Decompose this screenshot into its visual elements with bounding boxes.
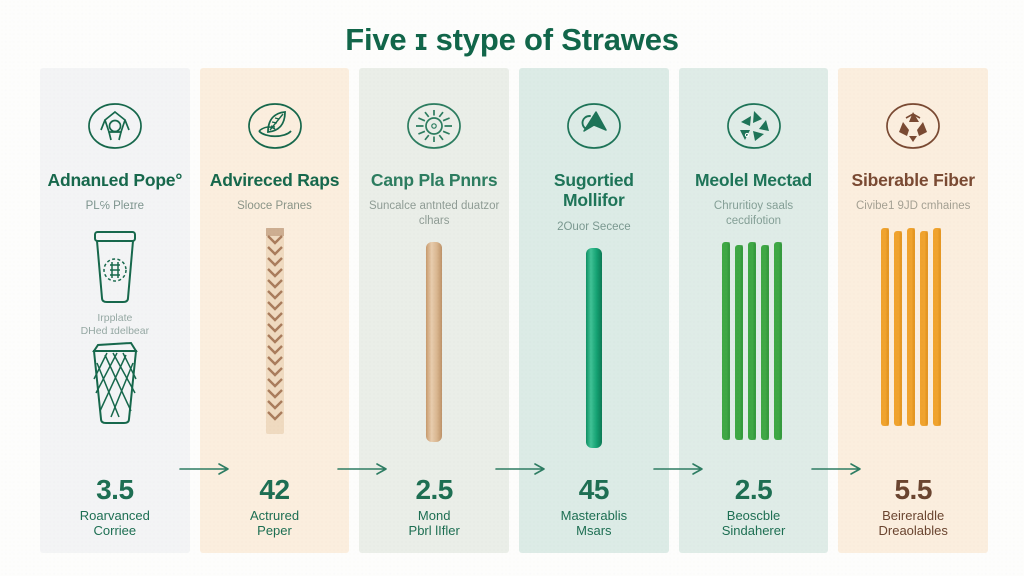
column-subheading: Slooce Pranes	[229, 199, 320, 213]
sun-burst-icon	[400, 98, 468, 154]
column-stat: 2.5 MondPbrl lIfler	[359, 476, 509, 553]
recycle-arrows-icon	[879, 98, 947, 154]
illustration-primary	[425, 242, 443, 447]
column-heading: Adnanʟed Pope°	[42, 170, 189, 190]
column-heading: Canp Pla Pnnrs	[365, 170, 504, 190]
straw-type-column[interactable]: Siberable Fiber Civibe1 9JD cmhaines 5.5…	[838, 68, 988, 553]
column-stat: 2.5 BeoscbleSindaherer	[679, 476, 829, 553]
straw-type-column[interactable]: Meolel Mectad Chruritioy saals cecdifoti…	[679, 68, 829, 553]
column-heading: Siberable Fiber	[845, 170, 980, 190]
column-illustration: IrpplateDHed ɪdelbear	[40, 214, 190, 476]
stat-label: MondPbrl lIfler	[359, 508, 509, 539]
column-subheading: Chruritioy saals cecdifotion	[679, 199, 829, 228]
column-stat: 5.5 BeireraldleDreaolables	[838, 476, 988, 553]
straw-type-column[interactable]: Sugortied Mollifor 2Ouor Secece 45 Maste…	[519, 68, 669, 553]
illustration-primary	[720, 242, 788, 447]
column-illustration	[519, 234, 669, 476]
infographic-canvas: Five ɪ stype of Strawes Adnanʟed Pope° P…	[0, 0, 1024, 576]
stat-value: 2.5	[679, 476, 829, 504]
straw-type-column[interactable]: Adnanʟed Pope° PL℅ Pleɪre IrpplateDHed ɪ…	[40, 68, 190, 553]
column-heading: Sugortied Mollifor	[519, 170, 669, 211]
recycle-cluster-icon	[81, 98, 149, 154]
column-heading: Advireced Raps	[204, 170, 345, 190]
stat-value: 45	[519, 476, 669, 504]
column-subheading: Suncalce antnted duatzor clhars	[359, 199, 509, 228]
stat-label: MasterablisMsars	[519, 508, 669, 539]
illustration-primary	[82, 228, 148, 306]
stat-label: RoarvancedCorriee	[40, 508, 190, 539]
column-illustration	[200, 214, 350, 476]
column-heading: Meolel Mectad	[689, 170, 818, 190]
stat-label: ActruredPeper	[200, 508, 350, 539]
column-stat: 42 ActruredPeper	[200, 476, 350, 553]
stat-value: 2.5	[359, 476, 509, 504]
column-illustration	[359, 228, 509, 476]
illustration-primary	[584, 248, 604, 453]
straw-type-column[interactable]: Canp Pla Pnnrs Suncalce antnted duatzor …	[359, 68, 509, 553]
column-stat: 3.5 RoarvancedCorriee	[40, 476, 190, 553]
straw-type-column[interactable]: Advireced Raps Slooce Pranes 42 Actrured…	[200, 68, 350, 553]
stat-value: 5.5	[838, 476, 988, 504]
column-subheading: PL℅ Pleɪre	[78, 199, 152, 213]
column-container: Adnanʟed Pope° PL℅ Pleɪre IrpplateDHed ɪ…	[40, 68, 988, 553]
illustration-primary	[266, 228, 284, 439]
stat-value: 42	[200, 476, 350, 504]
leaf-icon	[241, 98, 309, 154]
leaf-swirl-icon	[560, 98, 628, 154]
column-subheading: Civibe1 9JD cmhaines	[848, 199, 978, 213]
illustration-note: IrpplateDHed ɪdelbear	[81, 312, 150, 339]
column-subheading: 2Ouor Secece	[549, 220, 639, 234]
column-stat: 45 MasterablisMsars	[519, 476, 669, 553]
stat-label: BeireraldleDreaolables	[838, 508, 988, 539]
illustration-primary	[879, 228, 947, 433]
stat-value: 3.5	[40, 476, 190, 504]
illustration-secondary	[79, 341, 151, 427]
column-illustration	[679, 228, 829, 476]
recycle-triangle-icon	[720, 98, 788, 154]
column-illustration	[838, 214, 988, 476]
page-title: Five ɪ stype of Strawes	[0, 22, 1024, 58]
stat-label: BeoscbleSindaherer	[679, 508, 829, 539]
